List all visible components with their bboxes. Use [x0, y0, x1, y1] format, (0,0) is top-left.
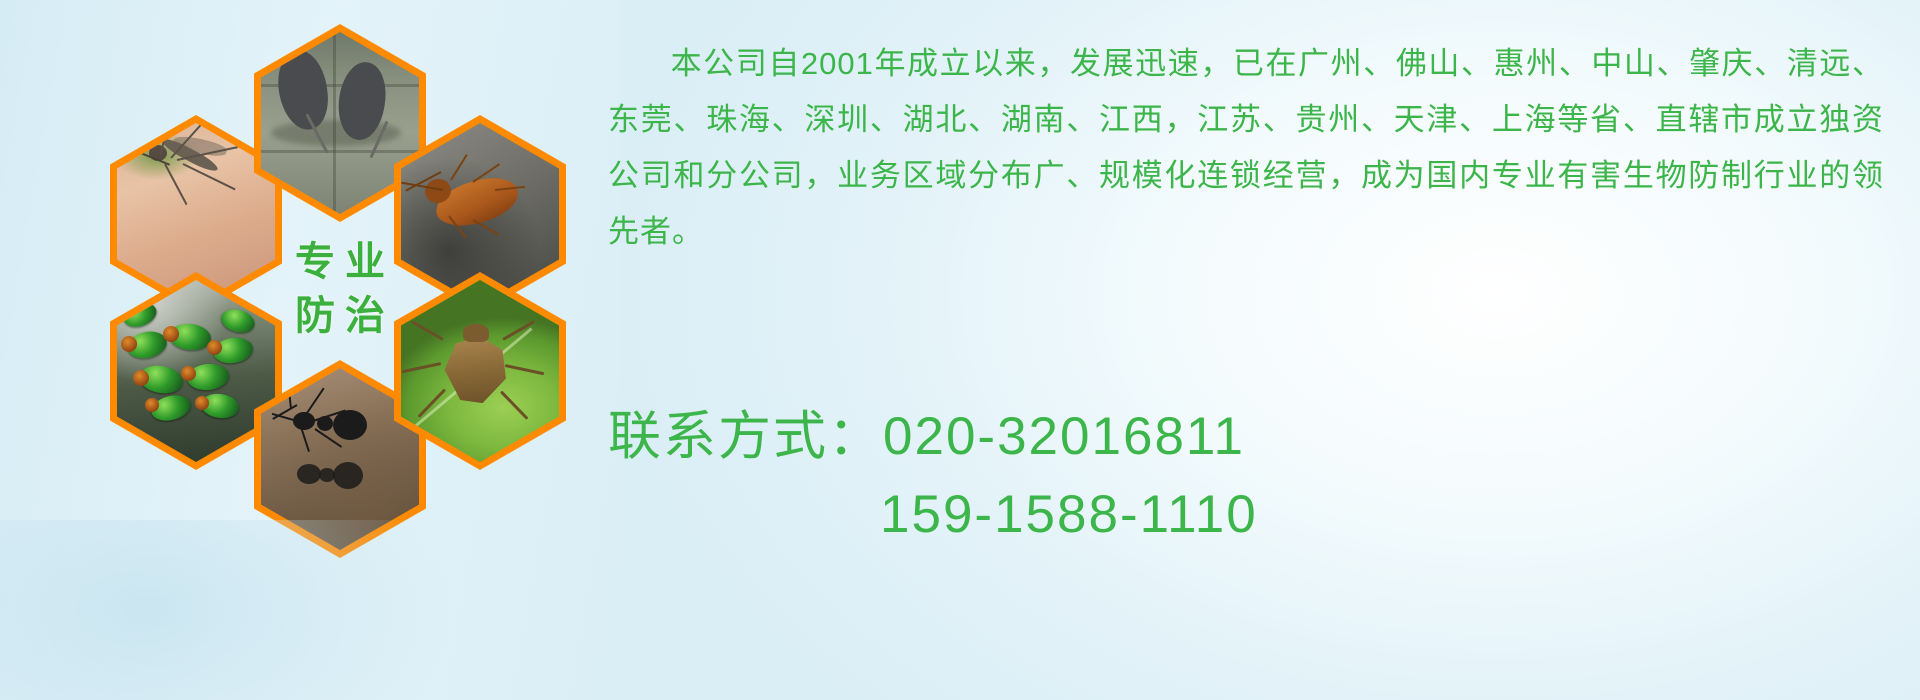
hexagon-photo-cluster: 专业 防治 [86, 10, 586, 560]
slogan-line-1: 专业 [285, 237, 395, 287]
company-intro-paragraph: 本公司自2001年成立以来，发展迅速，已在广州、佛山、惠州、中山、肇庆、清远、东… [608, 36, 1884, 260]
contact-block: 联系方式：020-32016811 159-1588-1110 [608, 398, 1884, 554]
contact-phone-1[interactable]: 020-32016811 [883, 407, 1245, 466]
pest-control-banner: 专业 防治 本公司自2001年成立以来，发展迅速，已在广州、佛山、惠州、中山、肇… [0, 0, 1920, 700]
content-column: 本公司自2001年成立以来，发展迅速，已在广州、佛山、惠州、中山、肇庆、清远、东… [608, 0, 1908, 700]
slogan-line-2: 防治 [285, 291, 395, 341]
contact-phone-2[interactable]: 159-1588-1110 [608, 476, 1884, 554]
flies-photo [117, 280, 275, 462]
paragraph-text: 本公司自2001年成立以来，发展迅速，已在广州、佛山、惠州、中山、肇庆、清远、东… [608, 46, 1884, 249]
contact-label: 联系方式： [608, 407, 883, 466]
